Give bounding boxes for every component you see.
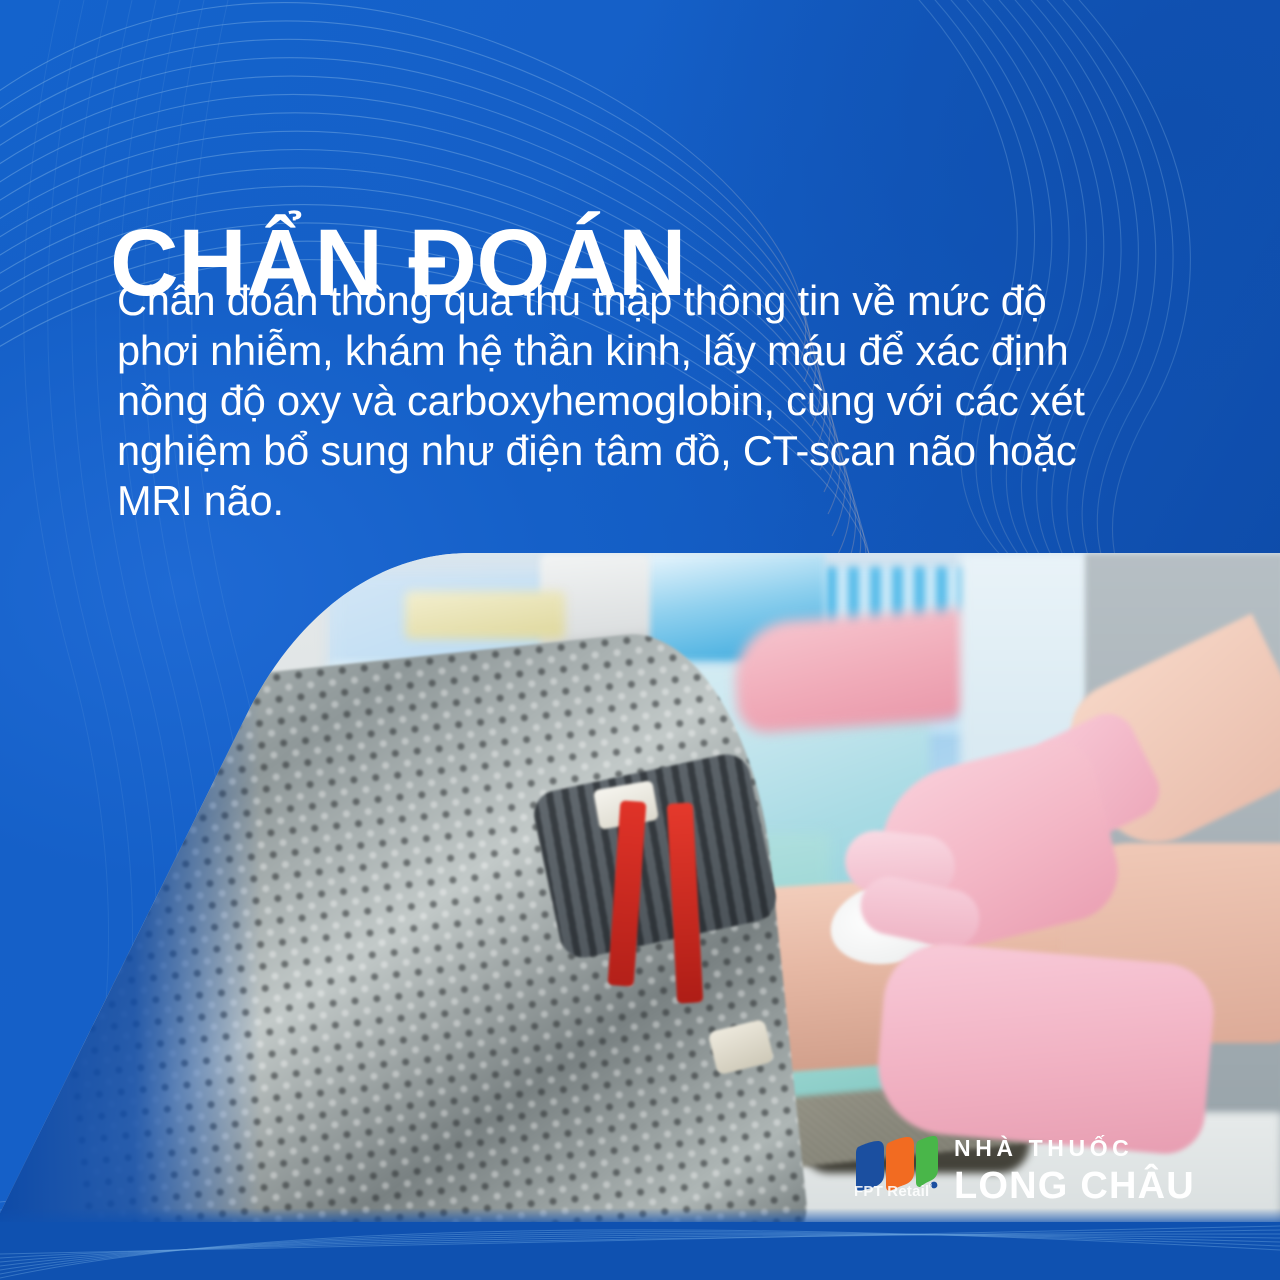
body-line-2: phơi nhiễm, khám hệ thần kinh, lấy máu đ… xyxy=(117,326,1197,376)
body-paragraph: Chẩn đoán thông qua thu thập thông tin v… xyxy=(117,276,1197,526)
brand-line-long-chau: LONG CHÂU xyxy=(954,1167,1195,1205)
body-line-4: nghiệm bổ sung như điện tâm đồ, CT-scan … xyxy=(117,426,1197,476)
brand-line-nha-thuoc: NHÀ THUỐC xyxy=(954,1137,1195,1160)
poster-canvas: CHẨN ĐOÁN Chẩn đoán thông qua thu thập t… xyxy=(0,0,1280,1280)
body-line-1: Chẩn đoán thông qua thu thập thông tin v… xyxy=(117,276,1197,326)
body-line-3: nồng độ oxy và carboxyhemoglobin, cùng v… xyxy=(117,376,1197,426)
fpt-retail-label: FPT Retail xyxy=(854,1183,929,1200)
brand-wordmark: NHÀ THUỐC LONG CHÂU xyxy=(954,1137,1195,1207)
body-line-5: MRI não. xyxy=(117,476,1197,526)
bottom-band-lines xyxy=(0,1216,1280,1280)
